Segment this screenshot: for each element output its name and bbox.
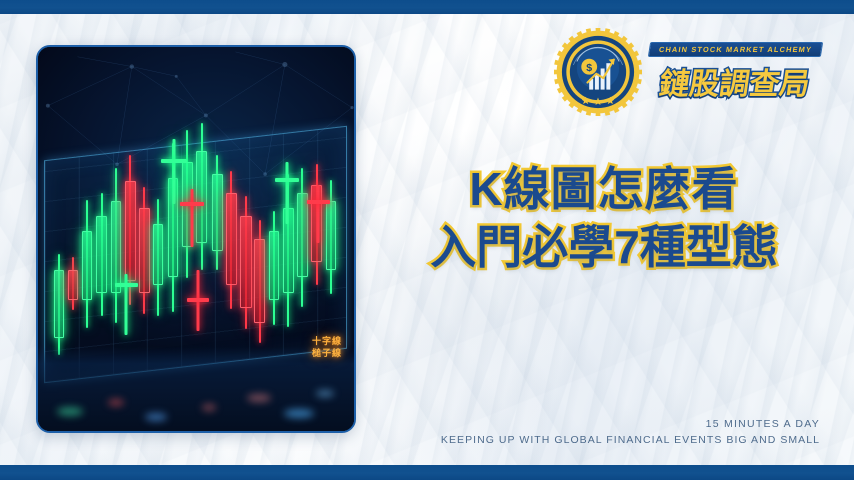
candle [226, 193, 237, 285]
svg-text:$: $ [586, 62, 592, 74]
doji-marker [275, 162, 299, 223]
doji-marker [307, 185, 331, 243]
candle [153, 224, 163, 285]
brand-logo[interactable]: $ CHAIN STOCK MARKET ALCHEMY 鏈股調查局 [554, 26, 822, 118]
candle [96, 216, 106, 293]
tagline-line-1: 15 MINUTES A DAY [441, 418, 820, 430]
candle [212, 174, 223, 251]
brand-english-name: CHAIN STOCK MARKET ALCHEMY [648, 42, 823, 57]
candle [240, 216, 251, 308]
tagline: 15 MINUTES A DAY KEEPING UP WITH GLOBAL … [441, 418, 820, 446]
brand-wordmark: CHAIN STOCK MARKET ALCHEMY 鏈股調查局 [649, 42, 822, 103]
emblem-icon: $ [554, 28, 642, 116]
chart-annotation: 十字線 槌子線 [312, 335, 342, 359]
desk-reflection [38, 347, 354, 431]
candle [139, 208, 150, 292]
candle [125, 181, 136, 281]
candle [82, 231, 92, 300]
title-line-2: 入門必學7種型態 [378, 218, 830, 276]
candle [54, 262, 64, 346]
page-title: K線圖怎麼看 入門必學7種型態 [378, 160, 830, 277]
annotation-line-1: 十字線 [312, 335, 342, 347]
brand-chinese-name: 鏈股調查局 [657, 59, 813, 103]
tagline-line-2: KEEPING UP WITH GLOBAL FINANCIAL EVENTS … [441, 434, 820, 446]
hammer-marker [115, 274, 137, 335]
candle [254, 239, 265, 323]
presentation-slide: 十字線 槌子線 [0, 0, 854, 480]
doji-marker [187, 270, 209, 331]
doji-marker [180, 189, 204, 247]
annotation-line-2: 槌子線 [312, 347, 342, 359]
candlestick-image-card: 十字線 槌子線 [36, 45, 356, 433]
candle [269, 231, 279, 300]
bottom-accent-bar [0, 465, 854, 480]
title-line-1: K線圖怎麼看 [378, 160, 830, 218]
candlestick-photo: 十字線 槌子線 [38, 47, 354, 431]
top-accent-bar [0, 0, 854, 14]
candle [68, 270, 78, 301]
